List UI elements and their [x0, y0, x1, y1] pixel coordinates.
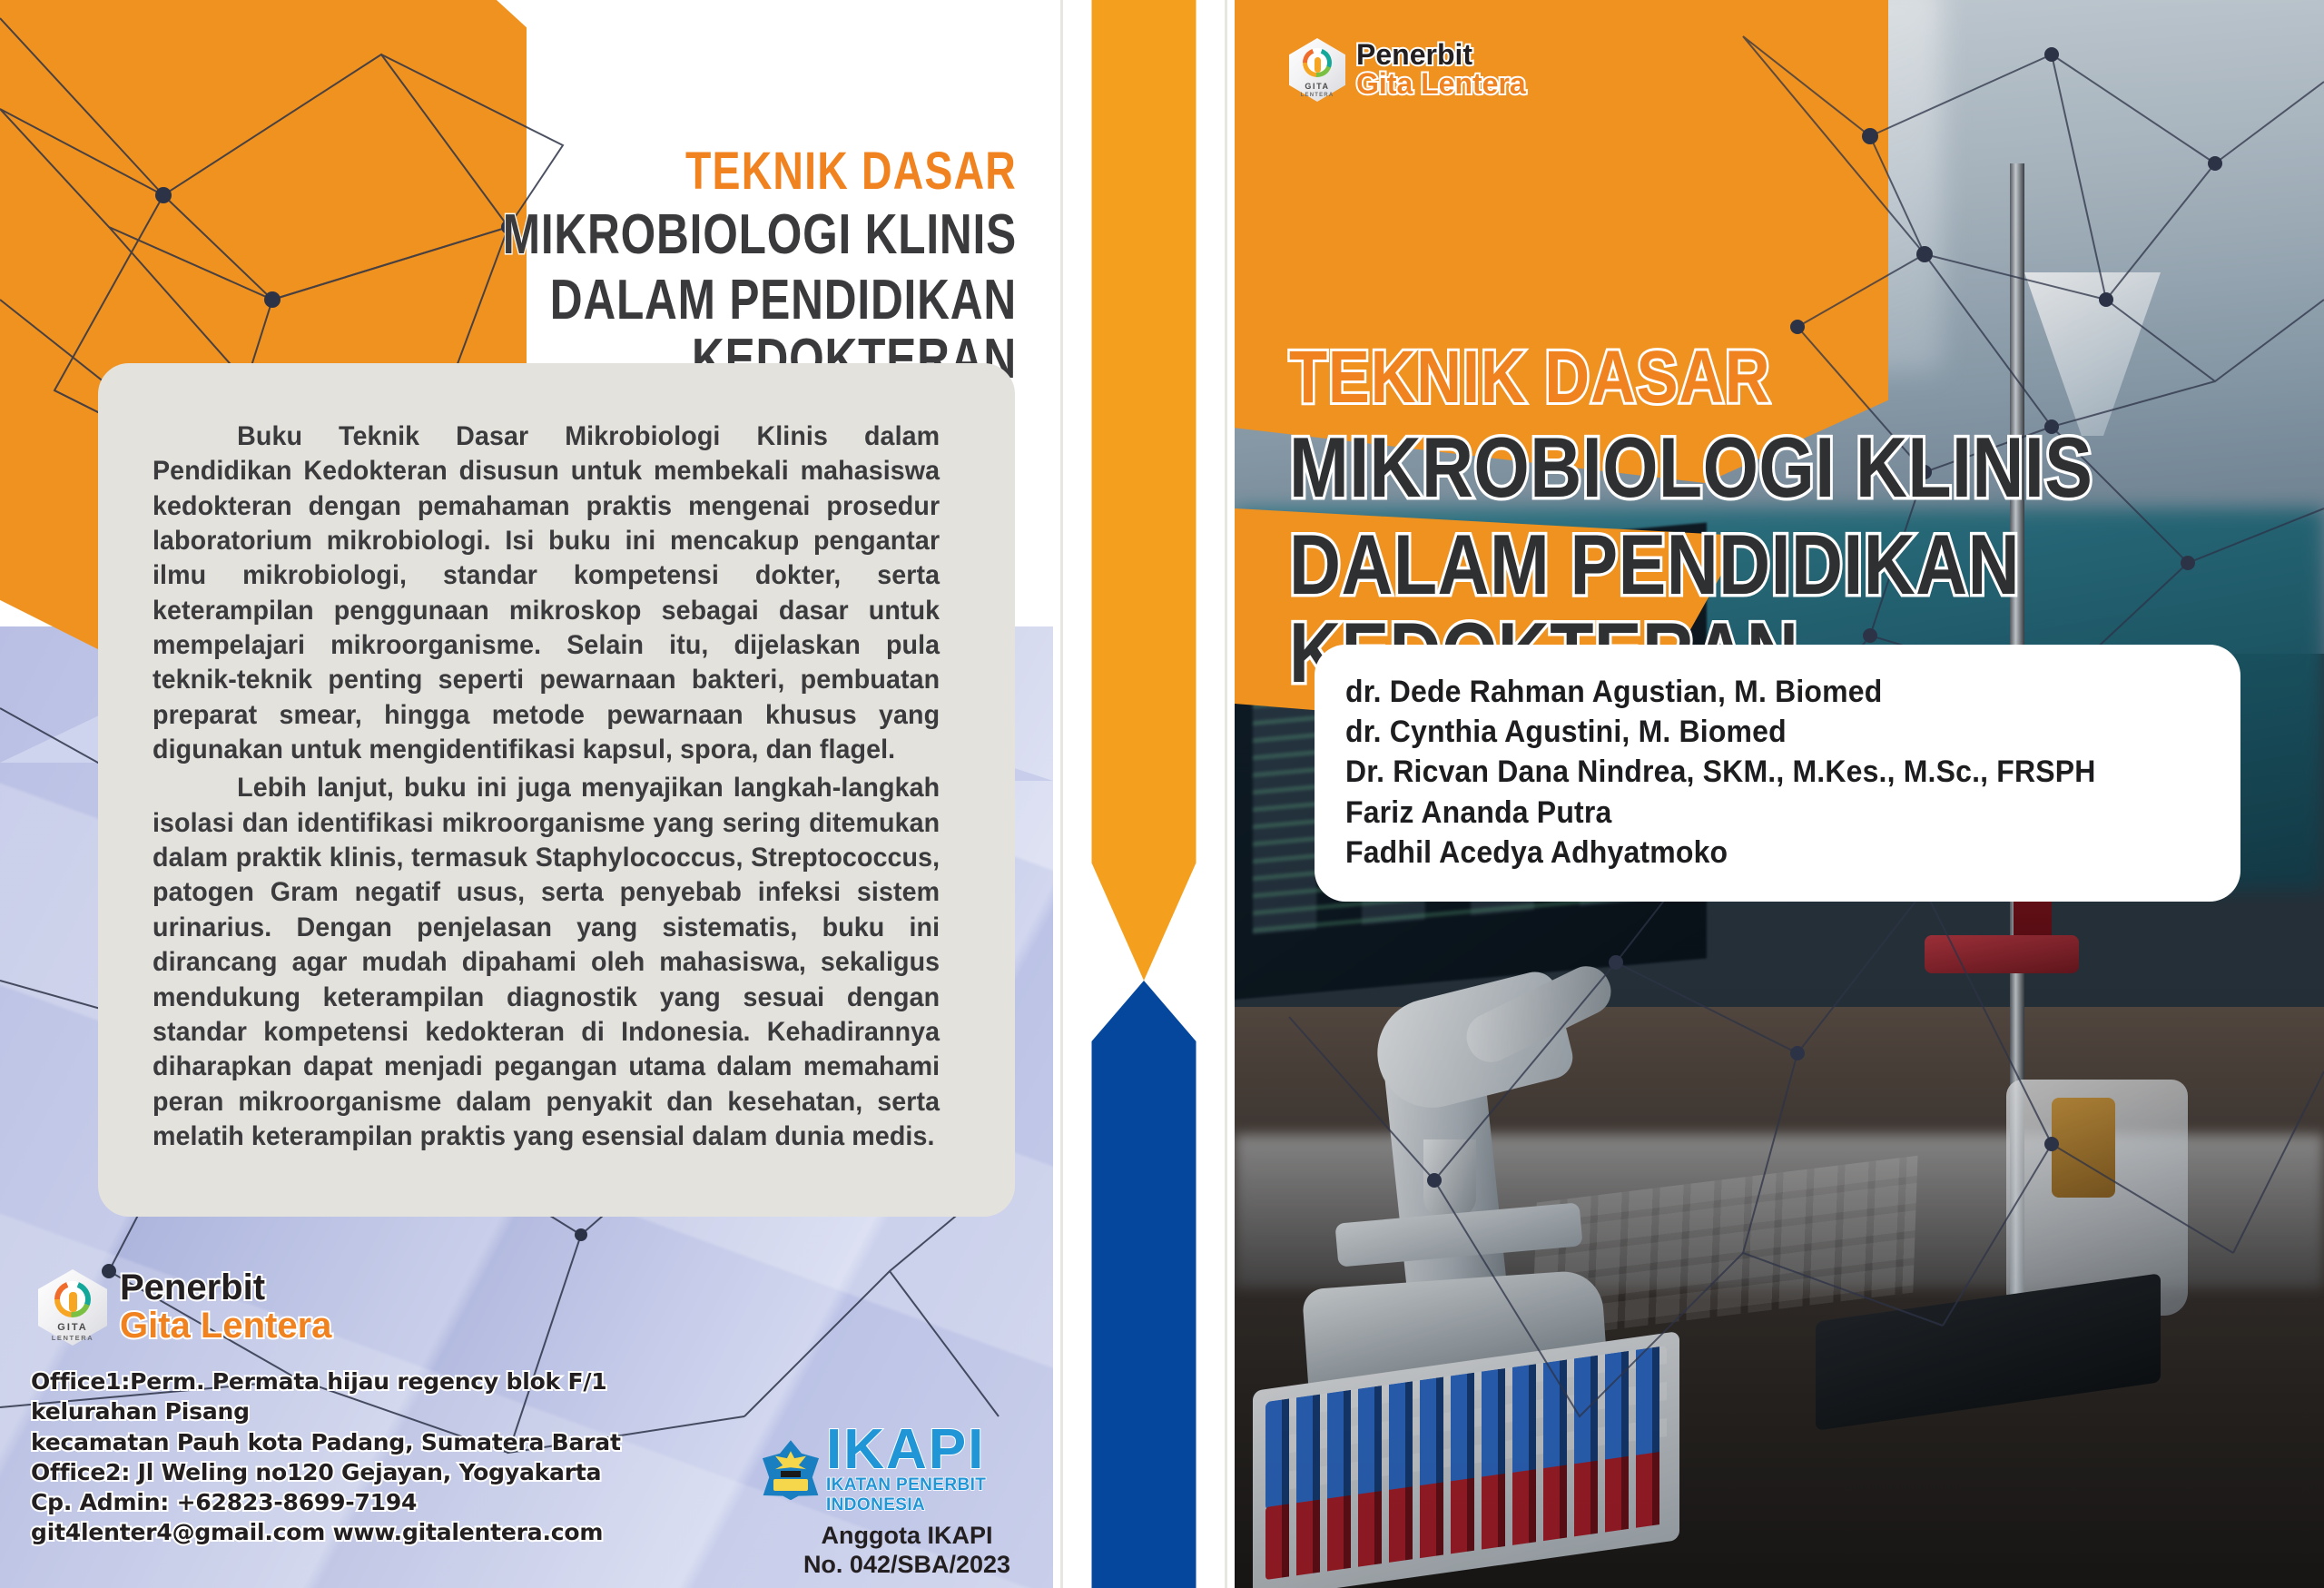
contact-line-email-web: git4lenter4@gmail.com www.gitalentera.co…	[31, 1517, 666, 1547]
ikapi-petal-shape	[761, 1440, 821, 1500]
author-name: Fadhil Acedya Adhyatmoko	[1345, 833, 2158, 873]
publisher-prefix-front: Penerbit	[1356, 40, 1526, 70]
ikapi-logo-row: IKAPI IKATAN PENERBIT INDONESIA	[761, 1425, 1053, 1515]
publisher-name: Gita Lentera	[120, 1307, 331, 1345]
author-name: dr. Dede Rahman Agustian, M. Biomed	[1345, 672, 2158, 712]
author-name: dr. Cynthia Agustini, M. Biomed	[1345, 712, 2158, 752]
ikapi-membership-block: Anggota IKAPI No. 042/SBA/2023	[761, 1521, 1053, 1581]
synopsis-paragraph-1: Buku Teknik Dasar Mikrobiologi Klinis da…	[153, 419, 940, 767]
logo-subwordmark-front: LENTERA	[1289, 93, 1345, 98]
front-title-line-1: TEKNIK DASAR	[1289, 340, 2143, 415]
front-cover-title: TEKNIK DASAR MIKROBIOLOGI KLINIS DALAM P…	[1289, 340, 2306, 696]
spine-fold-line-right	[1225, 0, 1227, 1588]
publisher-prefix: Penerbit	[120, 1269, 331, 1307]
gita-lentera-hex-icon: GITA LENTERA	[38, 1269, 107, 1346]
book-cover-spread: TEKNIK DASAR MIKROBIOLOGI KLINIS DALAM P…	[0, 0, 2324, 1588]
author-list-panel: dr. Dede Rahman Agustian, M. Biomed dr. …	[1315, 645, 2240, 902]
ikapi-emblem-icon	[761, 1440, 821, 1500]
synopsis-paragraph-2: Lebih lanjut, buku ini juga menyajikan l…	[153, 771, 940, 1154]
back-cover-title: TEKNIK DASAR MIKROBIOLOGI KLINIS DALAM P…	[145, 145, 1017, 390]
ikapi-membership-label: Anggota IKAPI	[761, 1521, 1053, 1551]
author-name: Dr. Ricvan Dana Nindrea, SKM., M.Kes., M…	[1345, 752, 2158, 792]
publisher-logo-back: GITA LENTERA Penerbit Gita Lentera	[38, 1269, 331, 1346]
contact-line-office2: Office2: Jl Weling no120 Gejayan, Yogyak…	[31, 1457, 666, 1487]
back-cover: TEKNIK DASAR MIKROBIOLOGI KLINIS DALAM P…	[0, 0, 1053, 1588]
logo-subwordmark: LENTERA	[38, 1334, 107, 1342]
publisher-logo-front: GITA LENTERA Penerbit Gita Lentera	[1289, 38, 1526, 102]
author-name: Fariz Ananda Putra	[1345, 793, 2158, 833]
logo-wordmark: GITA	[38, 1322, 107, 1333]
ikapi-subtitle: IKATAN PENERBIT INDONESIA	[826, 1475, 1053, 1515]
front-cover: GITA LENTERA Penerbit Gita Lentera TEKNI…	[1235, 0, 2324, 1588]
spine-orange-band	[1092, 0, 1196, 981]
contact-line-office1: Office1:Perm. Permata hijau regency blok…	[31, 1366, 666, 1427]
publisher-contact-block: Office1:Perm. Permata hijau regency blok…	[31, 1366, 666, 1548]
synopsis-panel: Buku Teknik Dasar Mikrobiologi Klinis da…	[98, 363, 1015, 1217]
back-title-line-2: MIKROBIOLOGI KLINIS	[320, 205, 1017, 265]
circular-arc-icon-front	[1303, 48, 1332, 77]
back-title-line-1: TEKNIK DASAR	[320, 145, 1017, 198]
ikapi-base-shape	[773, 1479, 808, 1491]
publisher-name-front: Gita Lentera	[1356, 69, 1526, 100]
spine-fold-line-left	[1060, 0, 1063, 1588]
publisher-name-block: Penerbit Gita Lentera	[120, 1269, 331, 1345]
gita-lentera-hex-icon-front: GITA LENTERA	[1289, 38, 1345, 102]
ikapi-badge: IKAPI IKATAN PENERBIT INDONESIA Anggota …	[761, 1425, 1053, 1580]
logo-wordmark-front: GITA	[1289, 82, 1345, 91]
contact-line-phone: Cp. Admin: +62823-8699-7194	[31, 1487, 666, 1517]
ikapi-wordmark-block: IKAPI IKATAN PENERBIT INDONESIA	[826, 1425, 1053, 1515]
circular-arc-icon	[54, 1281, 91, 1317]
front-title-line-2: MIKROBIOLOGI KLINIS	[1289, 424, 2143, 512]
ikapi-wordmark: IKAPI	[826, 1425, 1053, 1475]
contact-line-office1-city: kecamatan Pauh kota Padang, Sumatera Bar…	[31, 1427, 666, 1457]
book-spine	[1053, 0, 1235, 1588]
ikapi-book-bar	[781, 1471, 801, 1477]
ikapi-membership-number: No. 042/SBA/2023	[761, 1550, 1053, 1580]
spine-blue-band	[1092, 981, 1196, 1588]
publisher-name-block-front: Penerbit Gita Lentera	[1356, 40, 1526, 101]
